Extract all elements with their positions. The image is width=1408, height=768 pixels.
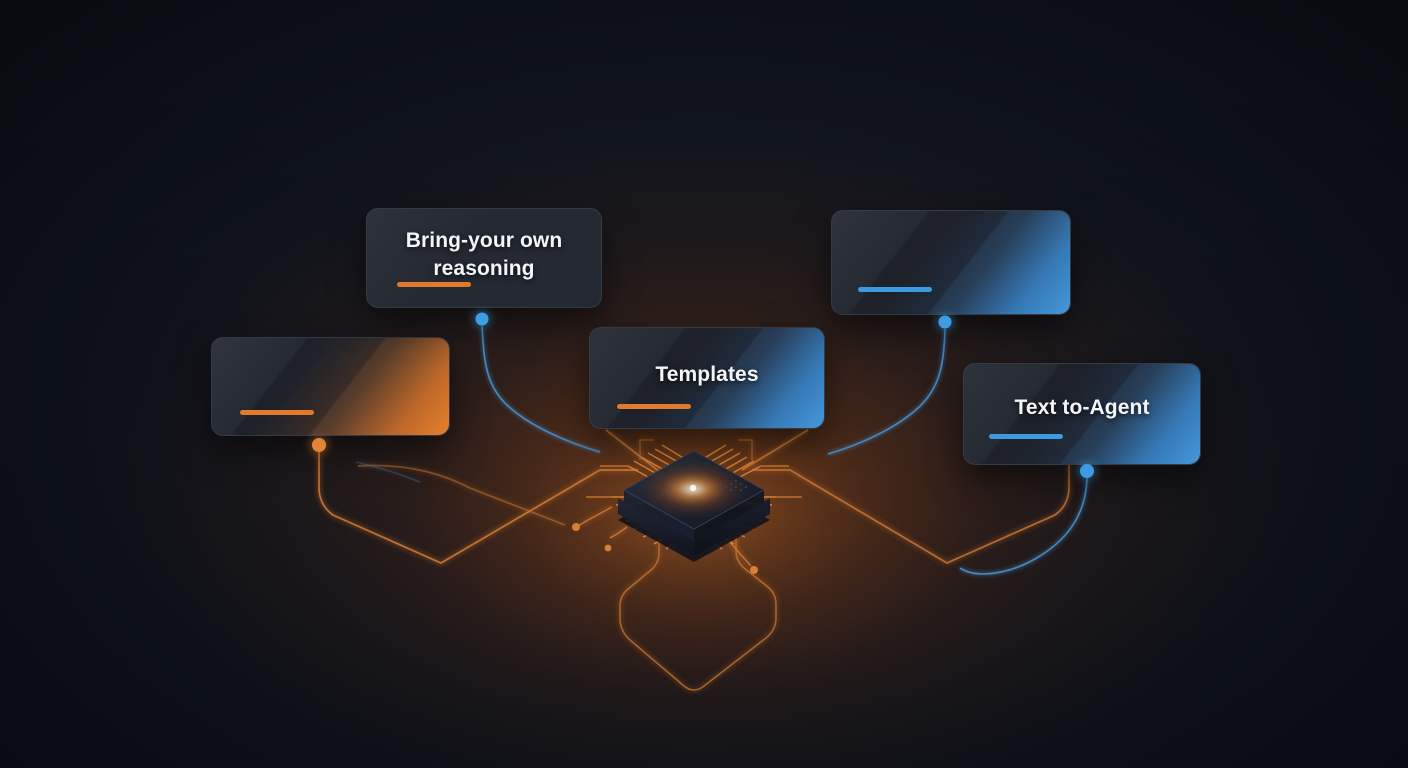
card-title: Bring-your own reasoning xyxy=(367,227,601,282)
diagram-canvas: Bring-your own reasoning Templates Text … xyxy=(0,0,1408,768)
card-orange-blank-left[interactable] xyxy=(211,337,450,436)
chip-body xyxy=(618,451,770,562)
card-bring-your-own-reasoning[interactable]: Bring-your own reasoning xyxy=(366,208,602,308)
card-diagonal-overlay xyxy=(832,211,1070,314)
card-title: Templates xyxy=(590,361,824,389)
card-accent-sheen xyxy=(212,338,449,435)
card-templates[interactable]: Templates xyxy=(589,327,825,429)
card-underline xyxy=(858,287,932,292)
connector-dot-blue-agent[interactable] xyxy=(1080,464,1094,478)
card-diagonal-overlay xyxy=(212,338,449,435)
card-text-to-agent[interactable]: Text to-Agent xyxy=(963,363,1201,465)
card-title: Text to-Agent xyxy=(964,394,1200,422)
card-underline xyxy=(617,404,691,409)
chip-core-led xyxy=(690,485,696,491)
connector-dot-blue-reasoning[interactable] xyxy=(476,313,489,326)
card-underline xyxy=(397,282,471,287)
card-underline xyxy=(240,410,314,415)
card-accent-sheen xyxy=(832,211,1070,314)
card-underline xyxy=(989,434,1063,439)
card-blue-blank-top-right[interactable] xyxy=(831,210,1071,315)
connector-dot-blue-top-right[interactable] xyxy=(939,316,952,329)
connector-dot-orange-left[interactable] xyxy=(312,438,326,452)
